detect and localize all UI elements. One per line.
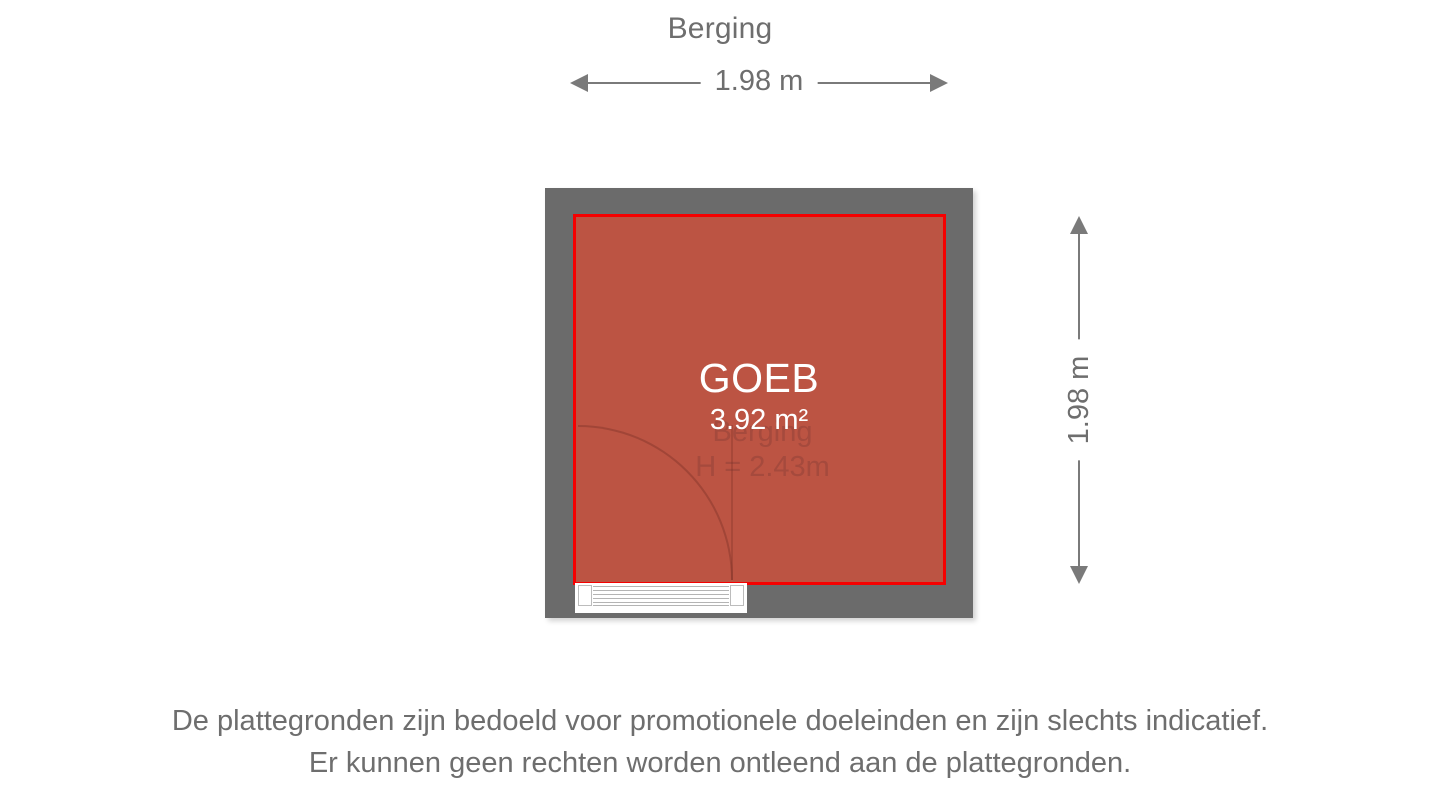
dimension-width-label: 1.98 m <box>701 61 818 101</box>
opening-frame-left <box>578 585 592 606</box>
room-floorplan: Berging H = 2.43m <box>545 188 973 618</box>
door-swing-arc <box>578 425 733 580</box>
opening-frame-right <box>730 585 744 606</box>
disclaimer-line-2: Er kunnen geen rechten worden ontleend a… <box>0 742 1440 784</box>
dimension-width: 1.98 m <box>570 66 948 100</box>
arrow-right-icon <box>930 74 948 92</box>
disclaimer-line-1: De plattegronden zijn bedoeld voor promo… <box>0 700 1440 742</box>
floorplan-canvas: Berging 1.98 m 1.98 m Berging H = 2.43m <box>0 0 1440 798</box>
disclaimer: De plattegronden zijn bedoeld voor promo… <box>0 700 1440 784</box>
dimension-height: 1.98 m <box>1062 216 1096 584</box>
dimension-height-label: 1.98 m <box>1062 340 1096 461</box>
room-interior: Berging H = 2.43m <box>573 214 946 585</box>
door-window-opening <box>575 583 747 613</box>
opening-slats <box>593 586 729 606</box>
arrow-down-icon <box>1070 566 1088 584</box>
page-title: Berging <box>0 12 1440 46</box>
door-leaf <box>731 425 733 580</box>
